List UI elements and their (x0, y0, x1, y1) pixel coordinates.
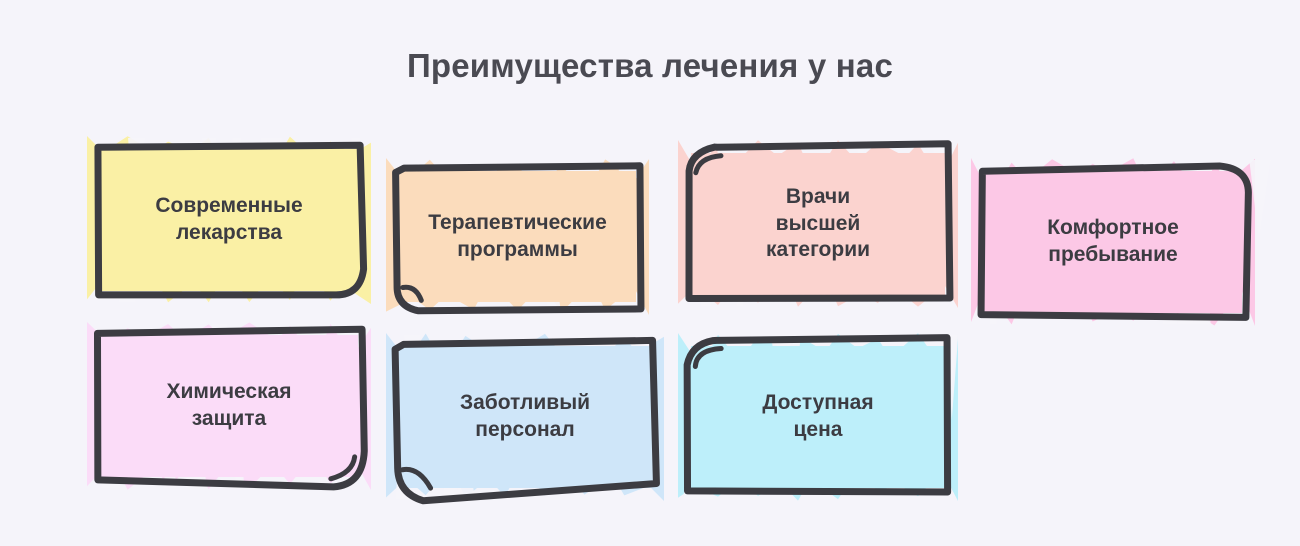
benefit-card[interactable]: Комфортное пребывание (981, 168, 1245, 316)
card-artwork (71, 306, 387, 506)
card-artwork (370, 317, 680, 517)
card-inner-fill (691, 153, 945, 295)
benefit-card[interactable]: Врачи высшей категории (688, 150, 948, 298)
card-inner-fill (984, 171, 1242, 313)
infographic-root: Преимущества лечения у нас Современные л… (0, 0, 1300, 546)
page-title: Преимущества лечения у нас (0, 47, 1300, 85)
card-inner-fill (399, 171, 636, 302)
card-artwork (662, 124, 974, 324)
card-inner-fill (399, 346, 651, 488)
card-artwork (370, 142, 665, 331)
card-inner-fill (100, 335, 358, 477)
benefit-card[interactable]: Терапевтические программы (396, 168, 639, 305)
card-inner-fill (691, 346, 945, 488)
benefit-card[interactable]: Заботливый персонал (396, 343, 654, 491)
benefit-card[interactable]: Современные лекарства (97, 146, 361, 294)
card-artwork (662, 317, 974, 517)
card-artwork (955, 142, 1271, 342)
card-inner-fill (100, 149, 358, 291)
card-artwork (71, 120, 387, 320)
benefit-card[interactable]: Доступная цена (688, 343, 948, 491)
benefit-card[interactable]: Химическая защита (97, 332, 361, 480)
